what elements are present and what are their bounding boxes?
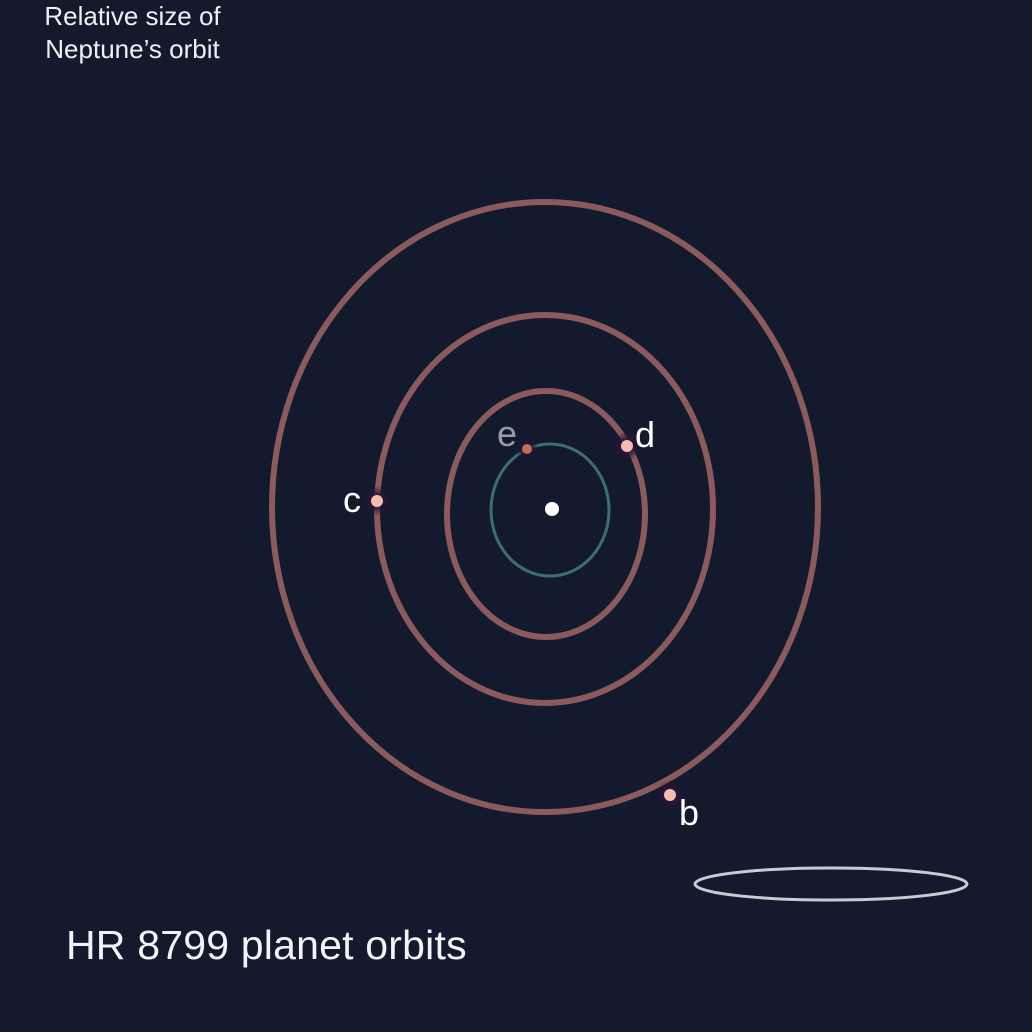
orbit-plot-svg xyxy=(0,0,1032,1032)
planet-label-b: b xyxy=(679,795,699,831)
planet-marker-b[interactable] xyxy=(664,789,676,801)
central-star-marker xyxy=(545,502,559,516)
planet-label-c: c xyxy=(343,482,361,518)
planet-marker-c[interactable] xyxy=(371,495,383,507)
orbit-path-d xyxy=(447,391,645,637)
neptune-orbit-scale-ellipse xyxy=(695,868,967,900)
planet-label-d: d xyxy=(635,417,655,453)
planet-marker-d[interactable] xyxy=(621,440,633,452)
planet-marker-e[interactable] xyxy=(522,444,532,454)
figure-title: HR 8799 planet orbits xyxy=(66,925,467,966)
planet-label-e: e xyxy=(497,416,517,452)
orbit-diagram-canvas: b c d e HR 8799 planet orbits Relative s… xyxy=(0,0,1032,1032)
